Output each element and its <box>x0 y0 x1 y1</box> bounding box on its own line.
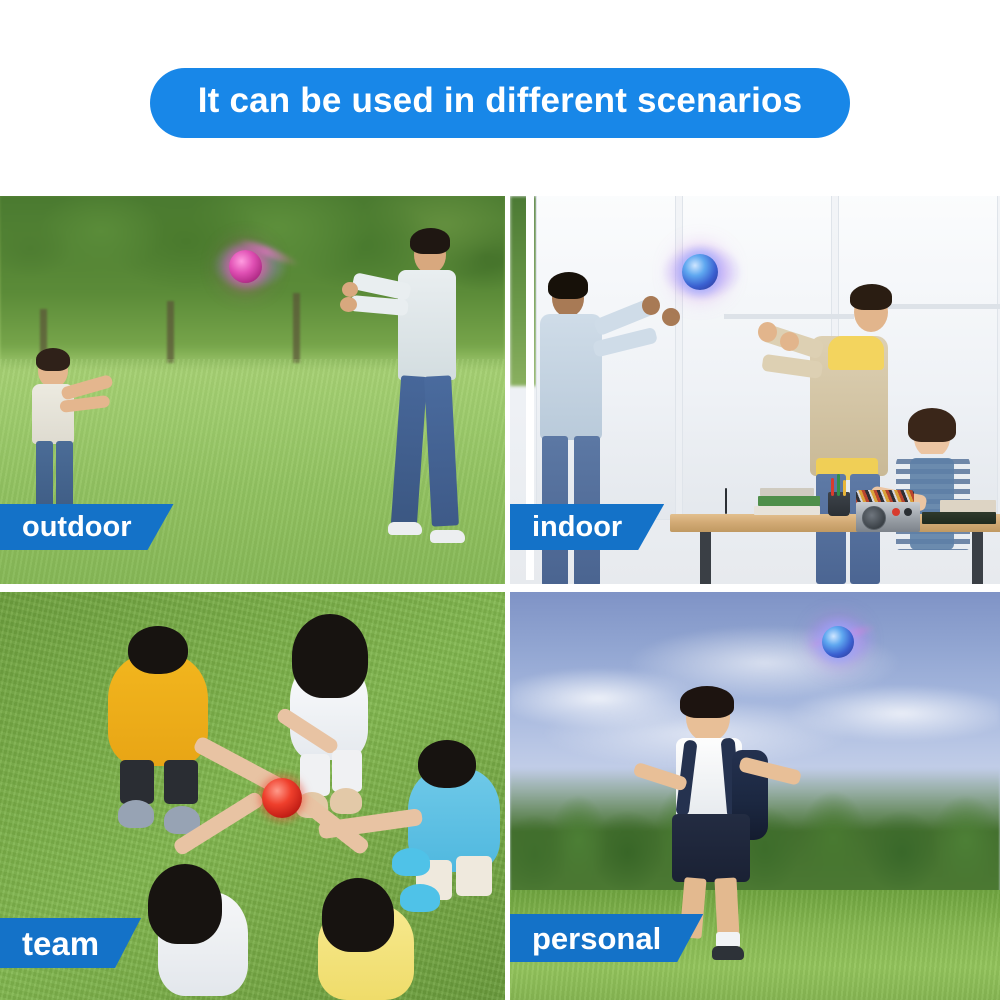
flying-orb-blue <box>822 626 854 658</box>
man-shoe-right <box>430 530 465 543</box>
window-mullion <box>876 304 1000 309</box>
headline-text: It can be used in different scenarios <box>196 82 804 121</box>
teen-left-hand-lower <box>662 308 680 326</box>
teen-right-hood <box>828 336 884 370</box>
man-hand-right <box>342 282 358 297</box>
skirt-left <box>300 754 330 796</box>
teen-left-hair <box>548 272 588 299</box>
scenario-photo-grid: outdoor <box>0 196 1000 1000</box>
boy-leg-left <box>36 441 53 511</box>
product-infographic-page: It can be used in different scenarios <box>0 0 1000 1000</box>
boy-leg-right <box>714 877 739 938</box>
psu-switch-black <box>904 508 912 516</box>
teen-left-shirt <box>540 314 602 440</box>
hair <box>322 878 394 952</box>
boy-shoe <box>712 946 744 960</box>
book-green <box>758 496 820 506</box>
book-grey <box>760 488 814 496</box>
scene-card-outdoor[interactable]: outdoor <box>0 196 505 584</box>
grid-gap-horizontal-right <box>510 584 1000 592</box>
hair <box>418 740 476 788</box>
shoe-left <box>392 848 430 876</box>
antenna <box>725 488 727 514</box>
flying-orb-blue <box>682 254 718 290</box>
scene-label-text: outdoor <box>22 513 132 542</box>
scene-card-indoor[interactable]: indoor <box>510 196 1000 584</box>
teen-right-hair <box>850 284 892 310</box>
scene-card-personal[interactable]: personal <box>510 592 1000 1000</box>
banner-container: It can be used in different scenarios <box>0 68 1000 138</box>
desk-leg <box>700 532 711 584</box>
scene-label-text: personal <box>532 923 661 954</box>
teen-left-hand-upper <box>642 296 660 315</box>
teen-right-hand-lower <box>780 332 799 351</box>
man-hand-left <box>340 297 357 312</box>
boy-hair <box>36 348 70 371</box>
psu-switch-red <box>892 508 900 516</box>
boy-hair <box>680 686 734 718</box>
pen-yellow <box>843 480 846 496</box>
scene-label-personal: personal <box>510 914 703 962</box>
man-hair <box>410 228 450 254</box>
girl-hair <box>908 408 956 442</box>
headline-banner: It can be used in different scenarios <box>150 68 850 138</box>
psu-fan-icon <box>862 506 886 530</box>
skirt-right <box>332 750 362 792</box>
window-mullion <box>724 314 854 319</box>
hair <box>292 614 368 698</box>
shoe-right <box>400 884 440 912</box>
tree-trunk <box>167 301 174 363</box>
scene-label-text: team <box>22 927 99 960</box>
hair <box>128 626 188 674</box>
book-white <box>754 506 820 515</box>
desk-leg <box>972 532 983 584</box>
sandal-right <box>330 788 362 814</box>
boy-leg-right <box>56 441 73 511</box>
flying-orb-red <box>262 778 302 818</box>
shorts-right <box>164 760 198 804</box>
grid-gap-horizontal-left <box>0 584 505 592</box>
scene-label-outdoor: outdoor <box>0 504 174 550</box>
circuit-board <box>922 512 996 524</box>
boy-shorts <box>672 814 750 882</box>
flying-orb-pink <box>229 250 262 283</box>
pen-red <box>831 478 834 496</box>
teen-right-hand-upper <box>758 322 777 342</box>
scene-label-indoor: indoor <box>510 504 664 550</box>
man-shoe-left <box>388 522 422 535</box>
scene-card-team[interactable]: team <box>0 592 505 1000</box>
shorts-right <box>456 856 492 896</box>
shorts-left <box>120 760 154 804</box>
scene-label-text: indoor <box>532 513 622 542</box>
pen-green <box>837 474 840 496</box>
hair <box>148 864 222 944</box>
shoe-left <box>118 800 154 828</box>
tree-trunk <box>293 293 300 363</box>
